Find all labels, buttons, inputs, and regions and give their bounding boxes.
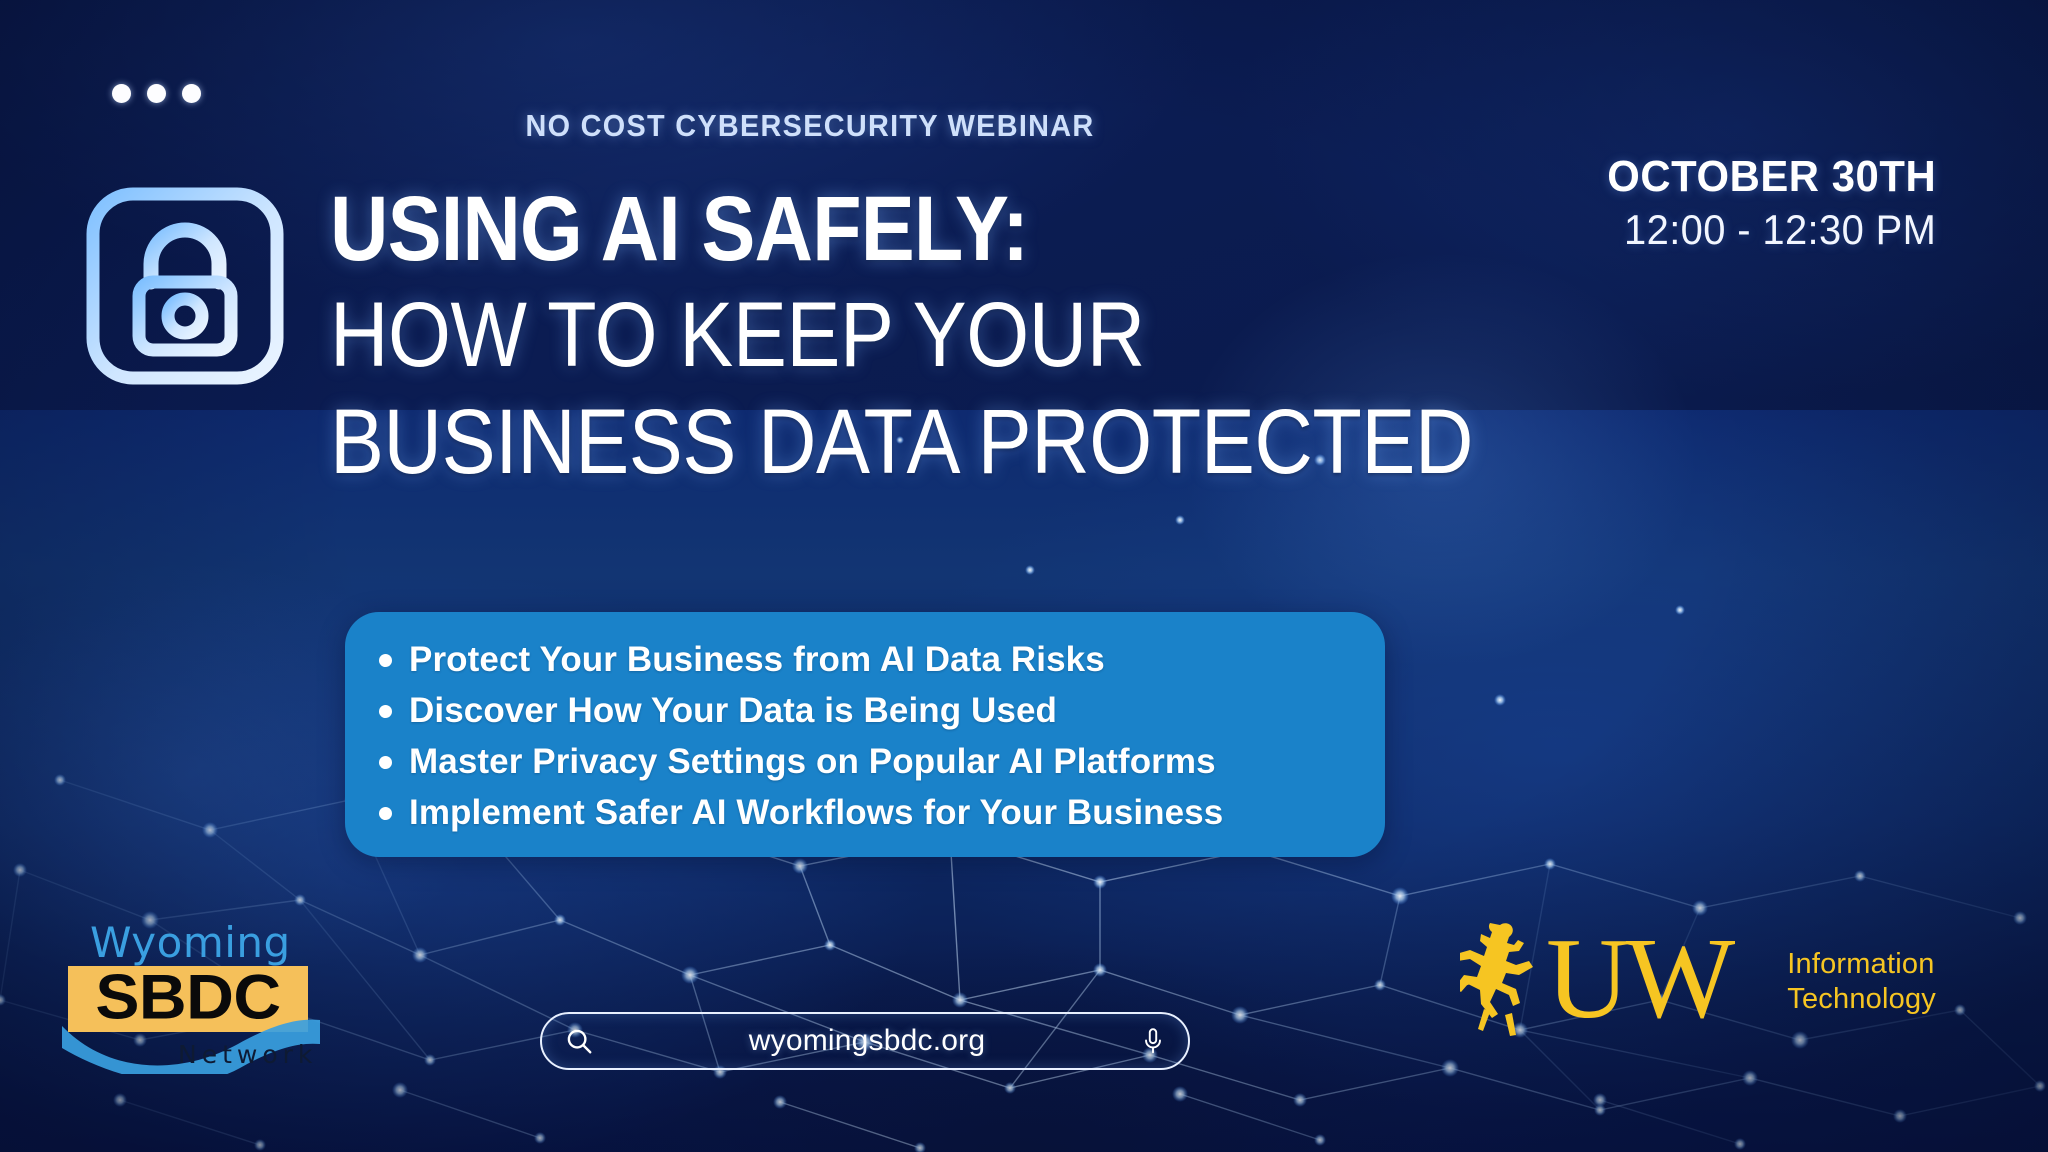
decorative-dots <box>112 84 201 103</box>
page-title: USING AI SAFELY: HOW TO KEEP YOUR BUSINE… <box>330 185 1810 486</box>
uw-information-technology-logo: UW Information Technology <box>1460 912 1930 1052</box>
uw-letters: UW <box>1546 921 1731 1037</box>
uw-department-line-2: Technology <box>1787 983 1936 1015</box>
uw-department: Information Technology <box>1787 947 1936 1018</box>
sbdc-logo-wyoming: Wyoming <box>90 918 291 967</box>
headline-line-3: BUSINESS DATA PROTECTED <box>330 398 1632 486</box>
uw-department-line-1: Information <box>1787 948 1934 980</box>
dot-2 <box>147 84 166 103</box>
list-item: Protect Your Business from AI Data Risks <box>379 640 1385 680</box>
sbdc-logo-network: Network <box>178 1040 317 1069</box>
headline-line-2: HOW TO KEEP YOUR <box>330 291 1632 379</box>
list-item: Implement Safer AI Workflows for Your Bu… <box>379 793 1385 833</box>
bullet-dot-icon <box>379 654 392 667</box>
list-item: Discover How Your Data is Being Used <box>379 691 1385 731</box>
dot-3 <box>182 84 201 103</box>
search-bar[interactable]: wyomingsbdc.org <box>540 1012 1190 1070</box>
list-item: Master Privacy Settings on Popular AI Pl… <box>379 742 1385 782</box>
kicker-text: NO COST CYBERSECURITY WEBINAR <box>57 108 1564 144</box>
search-input[interactable]: wyomingsbdc.org <box>594 1024 1140 1058</box>
bullet-text: Discover How Your Data is Being Used <box>409 691 1057 731</box>
bullet-text: Protect Your Business from AI Data Risks <box>409 640 1105 680</box>
benefits-card: Protect Your Business from AI Data Risks… <box>345 612 1385 857</box>
headline-line-1: USING AI SAFELY: <box>330 185 1632 273</box>
webinar-banner: NO COST CYBERSECURITY WEBINAR OCTOBER 30… <box>0 0 2048 1152</box>
bullet-text: Master Privacy Settings on Popular AI Pl… <box>409 742 1216 782</box>
bullet-dot-icon <box>379 756 392 769</box>
bullet-dot-icon <box>379 705 392 718</box>
wyoming-sbdc-logo: Wyoming SBDC Network <box>60 918 322 1086</box>
bucking-horse-rider-icon <box>1460 917 1548 1047</box>
bullet-dot-icon <box>379 807 392 820</box>
padlock-open-icon <box>85 186 285 386</box>
microphone-icon[interactable] <box>1140 1026 1166 1056</box>
dot-1 <box>112 84 131 103</box>
bullet-text: Implement Safer AI Workflows for Your Bu… <box>409 793 1223 833</box>
search-icon[interactable] <box>564 1026 594 1056</box>
